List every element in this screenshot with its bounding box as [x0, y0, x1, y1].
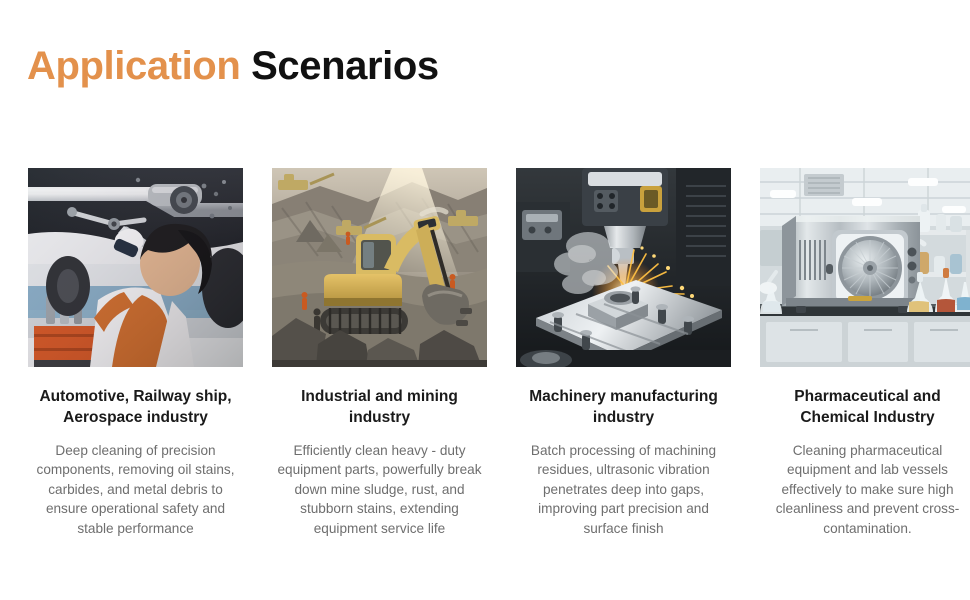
mining-illustration-icon [272, 168, 487, 367]
scenario-card: Automotive, Railway ship, Aerospace indu… [28, 168, 243, 538]
page-title: Application Scenarios [27, 42, 439, 90]
scenario-card-description: Batch processing of machining residues, … [518, 441, 730, 538]
cnc-machining-sparks-photo [516, 168, 731, 367]
mining-excavator-quarry-photo [272, 168, 487, 367]
scenario-card-description: Deep cleaning of precision components, r… [30, 441, 242, 538]
scenario-card-description: Cleaning pharmaceutical equipment and la… [762, 441, 970, 538]
scenario-card: Industrial and mining industry Efficient… [272, 168, 487, 538]
page-title-main: Scenarios [251, 44, 439, 88]
automotive-illustration-icon [28, 168, 243, 367]
scenario-card-grid: Automotive, Railway ship, Aerospace indu… [28, 168, 944, 538]
autoclave-illustration-icon [760, 168, 970, 367]
cnc-machining-illustration-icon [516, 168, 731, 367]
scenario-card-title: Pharmaceutical and Chemical Industry [765, 386, 970, 428]
scenario-card: Pharmaceutical and Chemical Industry Cle… [760, 168, 970, 538]
scenario-card-description: Efficiently clean heavy - duty equipment… [274, 441, 486, 538]
scenario-card-title: Automotive, Railway ship, Aerospace indu… [33, 386, 239, 428]
page-title-accent: Application [27, 44, 240, 88]
laboratory-autoclave-sterilizer-photo [760, 168, 970, 367]
automotive-mechanic-under-vehicle-photo [28, 168, 243, 367]
scenario-card-title: Industrial and mining industry [277, 386, 483, 428]
scenario-card: Machinery manufacturing industry Batch p… [516, 168, 731, 538]
scenario-card-title: Machinery manufacturing industry [521, 386, 727, 428]
